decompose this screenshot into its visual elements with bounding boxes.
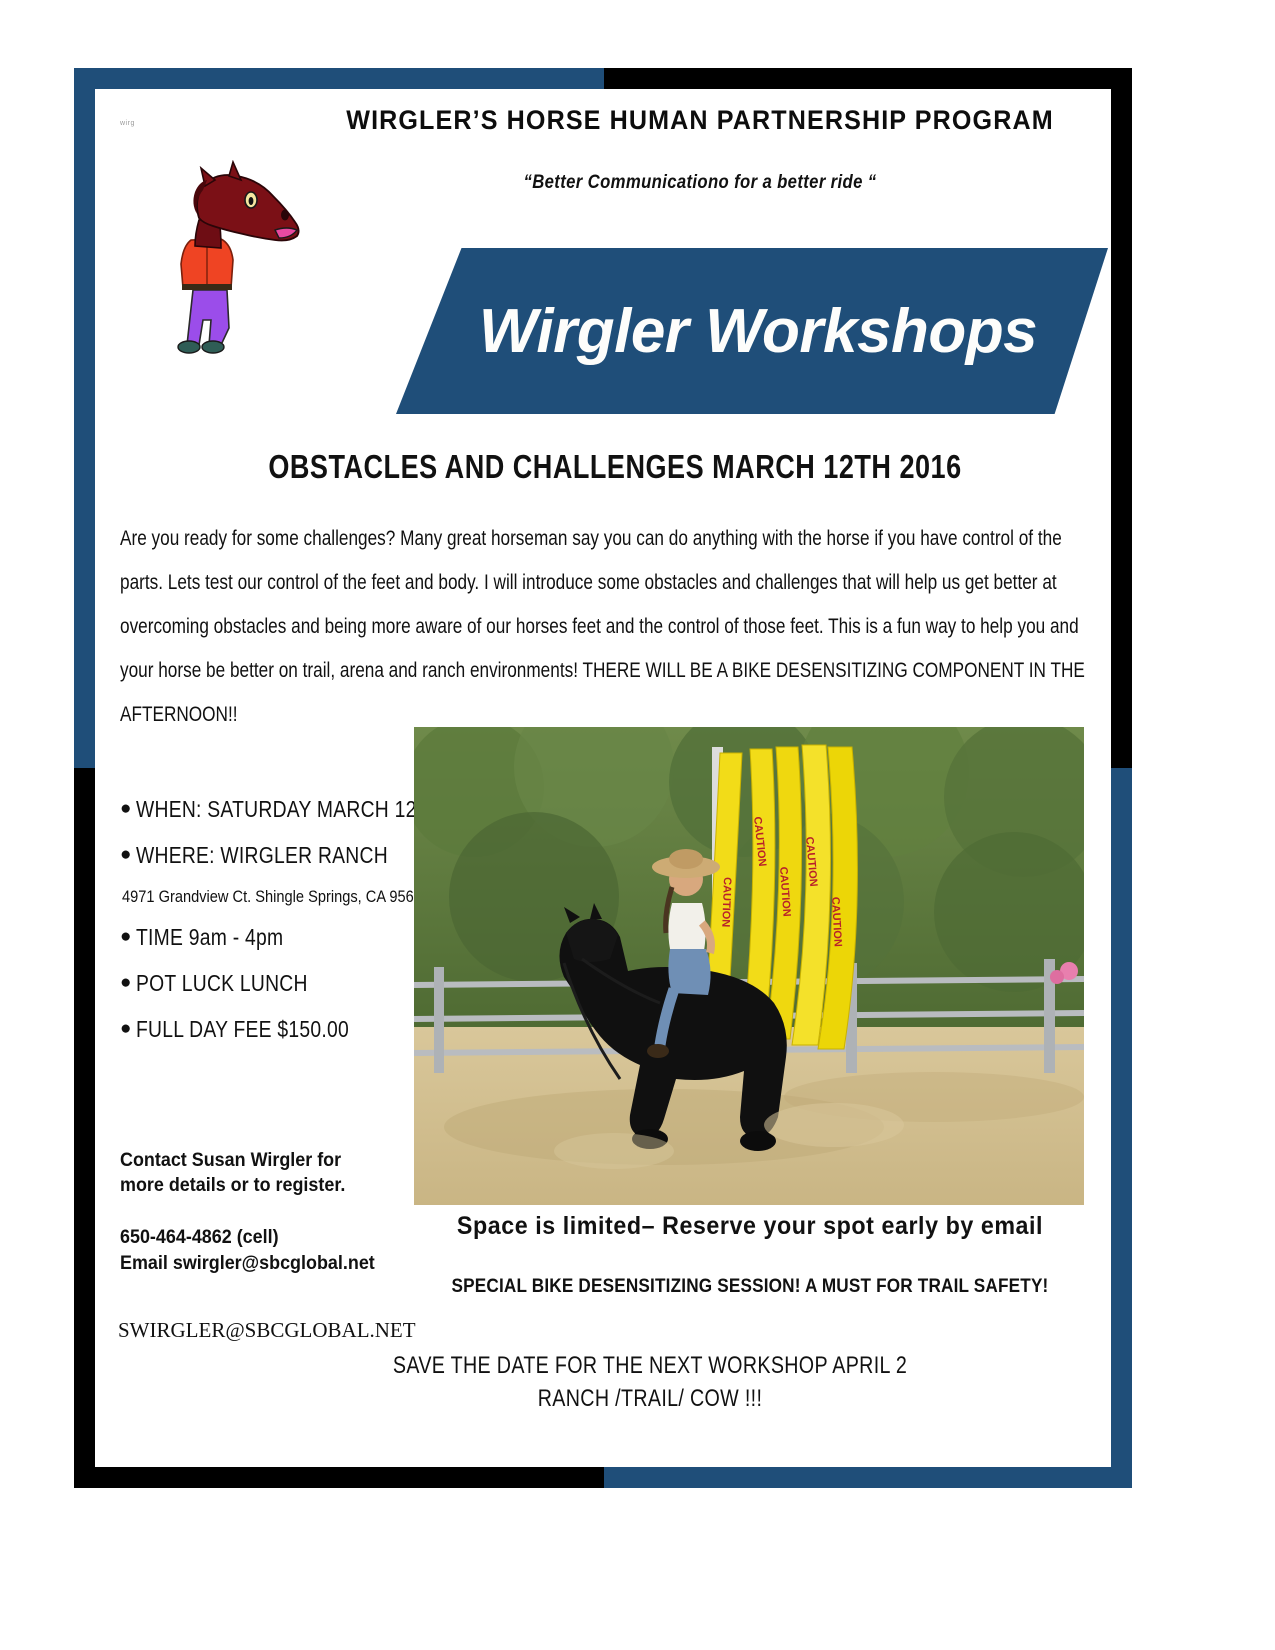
caption-space-limited: Space is limited– Reserve your spot earl… — [438, 1212, 1063, 1241]
workshop-photo: CAUTION CAUTION CAUTION CAUTION CAUTION — [414, 727, 1084, 1205]
caption-bike-session: SPECIAL BIKE DESENSITIZING SESSION! A MU… — [442, 1275, 1058, 1298]
border-left-blue — [74, 68, 95, 768]
list-item: ● POT LUCK LUNCH — [120, 970, 450, 997]
event-subtitle: OBSTACLES AND CHALLENGES MARCH 12TH 2016 — [209, 448, 1021, 486]
border-right-blue — [1111, 768, 1132, 1488]
bullet-dot-icon: ● — [120, 796, 131, 822]
list-item: ● FULL DAY FEE $150.00 — [120, 1016, 450, 1043]
border-right-black — [1111, 68, 1132, 768]
bullet-dot-icon: ● — [120, 970, 131, 996]
border-bottom-blue — [604, 1467, 1132, 1488]
border-top-blue — [74, 68, 604, 89]
email-address[interactable]: Email swirgler@sbcglobal.net — [120, 1250, 414, 1276]
detail-when: WHEN: SATURDAY MARCH 12 — [136, 796, 417, 823]
body-paragraph: Are you ready for some challenges? Many … — [120, 516, 1108, 736]
phone-number[interactable]: 650-464-4862 (cell) — [120, 1224, 414, 1250]
venue-address: 4971 Grandview Ct. Shingle Springs, CA 9… — [122, 882, 449, 912]
list-item: ● TIME 9am - 4pm — [120, 924, 450, 951]
caption-save-date-line1: SAVE THE DATE FOR THE NEXT WORKSHOP APRI… — [363, 1352, 937, 1380]
contact-block: 650-464-4862 (cell) Email swirgler@sbcgl… — [120, 1224, 414, 1276]
bullet-dot-icon: ● — [120, 842, 131, 868]
bullet-dot-icon: ● — [120, 1016, 131, 1042]
border-bottom-black — [74, 1467, 604, 1488]
event-details-list: ● WHEN: SATURDAY MARCH 12 ● WHERE: WIRGL… — [120, 796, 450, 1062]
horse-head-mascot-icon — [155, 160, 305, 355]
border-left-black — [74, 768, 95, 1488]
tagline: “Better Communicationo for a better ride… — [348, 172, 1052, 194]
list-item: ● WHEN: SATURDAY MARCH 12 — [120, 796, 450, 823]
contact-heading: Contact Susan Wirgler for more details o… — [120, 1148, 387, 1198]
flyer-page: wirg WIRGLER’S HORSE HUMAN PARTNERSHIP P… — [0, 0, 1275, 1650]
svg-text:CAUTION: CAUTION — [719, 877, 733, 928]
detail-time: TIME 9am - 4pm — [136, 924, 283, 951]
detail-where: WHERE: WIRGLER RANCH — [136, 842, 388, 869]
border-top-black — [604, 68, 1132, 89]
bullet-dot-icon: ● — [120, 924, 131, 950]
email-address-uppercase[interactable]: SWIRGLER@SBCGLOBAL.NET — [118, 1318, 416, 1343]
detail-lunch: POT LUCK LUNCH — [136, 970, 308, 997]
page-title: WIRGLER’S HORSE HUMAN PARTNERSHIP PROGRA… — [309, 105, 1090, 136]
banner-title: Wirgler Workshops — [396, 248, 1108, 414]
caption-save-date-line2: RANCH /TRAIL/ COW !!! — [363, 1385, 937, 1413]
corner-watermark: wirg — [120, 120, 135, 127]
list-item: ● WHERE: WIRGLER RANCH — [120, 842, 450, 869]
detail-fee: FULL DAY FEE $150.00 — [136, 1016, 349, 1043]
